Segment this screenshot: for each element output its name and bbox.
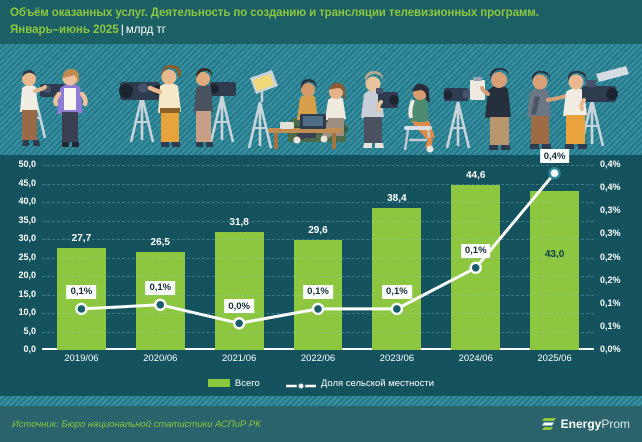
y-tick-right: 0,1% <box>600 321 640 331</box>
tv-crew-illustration <box>0 44 642 155</box>
y-tick-left: 35,0 <box>2 215 36 225</box>
y-tick-right: 0,2% <box>600 252 640 262</box>
y-tick-right: 0,4% <box>600 159 640 169</box>
x-axis-labels: 2019/062020/062021/062022/062023/062024/… <box>42 353 594 369</box>
line-value-label: 0,1% <box>303 285 333 299</box>
camera-tripod-standalone <box>444 88 472 148</box>
x-tick-label: 2020/06 <box>121 353 200 364</box>
gridline <box>42 184 594 185</box>
figure-presenter-1 <box>55 69 85 147</box>
x-tick-label: 2025/06 <box>515 353 594 364</box>
energyprom-mark-icon <box>541 416 557 432</box>
gridline <box>42 258 594 259</box>
figure-director <box>470 68 511 150</box>
y-tick-left: 25,0 <box>2 252 36 262</box>
x-tick-label: 2021/06 <box>200 353 279 364</box>
x-tick-label: 2019/06 <box>42 353 121 364</box>
line-value-label: 0,1% <box>461 244 491 258</box>
legend-item-total[interactable]: Всего <box>208 378 260 389</box>
bar-value-label: 27,7 <box>57 233 106 244</box>
y-tick-right: 0,4% <box>600 182 640 192</box>
subtitle: Январь–июнь 2025|млрд тг <box>10 21 632 38</box>
footer-strip <box>0 396 642 406</box>
x-tick-label: 2023/06 <box>357 353 436 364</box>
y-tick-right: 0,1% <box>600 298 640 308</box>
page-title: Объём оказанных услуг. Деятельность по с… <box>10 6 632 21</box>
y-tick-left: 15,0 <box>2 289 36 299</box>
gridline <box>42 332 594 333</box>
y-tick-right: 0,3% <box>600 205 640 215</box>
legend-bar-swatch <box>208 379 230 387</box>
line-value-label: 0,1% <box>145 281 175 295</box>
gridline <box>42 221 594 222</box>
legend-item-rural-share[interactable]: Доля сельской местности <box>286 378 434 389</box>
bar-value-label: 44,6 <box>451 170 500 181</box>
gridline <box>42 239 594 240</box>
figure-seated-guest <box>404 84 435 153</box>
bar[interactable] <box>372 208 421 350</box>
chart-area: 27,726,531,829,638,444,643,0 0,1%0,1%0,0… <box>0 155 642 396</box>
y-tick-left: 0,0 <box>2 344 36 354</box>
energyprom-logo[interactable]: EnergyProm <box>541 416 630 432</box>
chart-legend: Всего Доля сельской местности <box>0 374 642 392</box>
line-value-label: 0,1% <box>67 285 97 299</box>
legend-label-total: Всего <box>235 378 260 389</box>
illustration-band <box>0 44 642 155</box>
figure-grip <box>527 71 566 149</box>
y-tick-left: 30,0 <box>2 233 36 243</box>
legend-label-rural-share: Доля сельской местности <box>321 378 434 389</box>
y-tick-left: 45,0 <box>2 178 36 188</box>
footer: Источник: Бюро национальной статистики А… <box>0 406 642 442</box>
gridline <box>42 202 594 203</box>
legend-line-swatch <box>286 378 316 388</box>
figure-cameraman-2 <box>119 65 181 147</box>
figure-interview-pair <box>286 79 348 144</box>
bar[interactable] <box>530 191 579 350</box>
plot-region: 27,726,531,829,638,444,643,0 0,1%0,1%0,0… <box>42 165 594 350</box>
infographic-page: Объём оказанных услуг. Деятельность по с… <box>0 0 642 442</box>
gridline <box>42 276 594 277</box>
bar-value-label: 29,6 <box>294 225 343 236</box>
header: Объём оказанных услуг. Деятельность по с… <box>0 0 642 44</box>
bar[interactable] <box>136 252 185 350</box>
figure-cameraman-5 <box>563 66 629 149</box>
y-tick-right: 0,2% <box>600 275 640 285</box>
x-tick-label: 2022/06 <box>279 353 358 364</box>
line-value-label: 0,4% <box>540 149 570 163</box>
y-tick-left: 20,0 <box>2 270 36 280</box>
subtitle-separator: | <box>119 22 126 36</box>
gridline <box>42 165 594 166</box>
y-tick-left: 40,0 <box>2 196 36 206</box>
y-tick-left: 5,0 <box>2 326 36 336</box>
figure-cameraman-4 <box>361 71 399 148</box>
studio-light <box>249 70 278 148</box>
y-tick-left: 10,0 <box>2 307 36 317</box>
x-tick-label: 2024/06 <box>436 353 515 364</box>
subtitle-unit: млрд тг <box>126 24 166 36</box>
bar[interactable] <box>451 185 500 350</box>
figure-cameraman-3 <box>194 68 236 147</box>
line-value-label: 0,0% <box>224 299 254 313</box>
subtitle-period: Январь–июнь 2025 <box>10 24 119 36</box>
y-tick-right: 0,0% <box>600 344 640 354</box>
energyprom-wordmark: EnergyProm <box>561 417 630 431</box>
line-value-label: 0,1% <box>382 285 412 299</box>
logo-prom: Prom <box>601 417 630 431</box>
y-tick-left: 50,0 <box>2 159 36 169</box>
bar-value-label: 31,8 <box>215 217 264 228</box>
gridline <box>42 313 594 314</box>
y-tick-right: 0,3% <box>600 228 640 238</box>
source-text: Источник: Бюро национальной статистики А… <box>12 419 261 430</box>
logo-energy: Energy <box>561 417 602 431</box>
